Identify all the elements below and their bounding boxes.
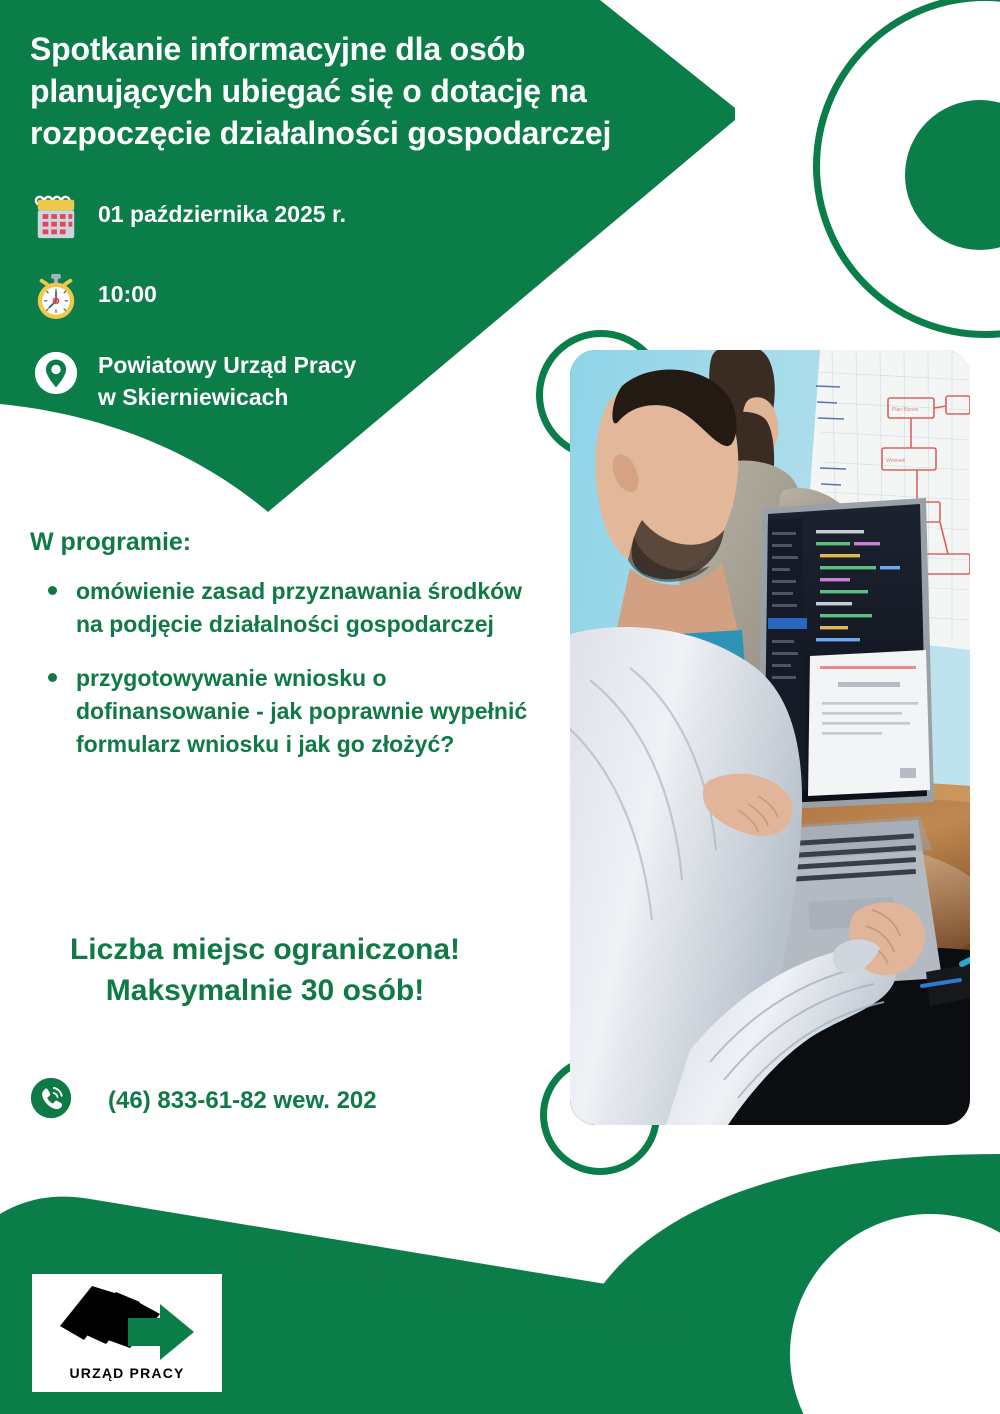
list-item: przygotowywanie wniosku o dofinansowanie… [48, 662, 550, 760]
event-detail-date: 01 października 2025 r. [28, 186, 548, 248]
decorative-ring-top-right [813, 0, 1000, 338]
event-time-text: 10:00 [84, 266, 157, 311]
event-detail-location: Powiatowy Urząd Pracy w Skierniewicach [28, 346, 548, 413]
stopwatch-icon [28, 266, 84, 328]
event-details-list: 01 października 2025 r. [28, 186, 548, 431]
logo-text: URZĄD PRACY [69, 1365, 184, 1381]
svg-text:Plan Biznes: Plan Biznes [892, 407, 919, 413]
urzad-pracy-logo: URZĄD PRACY [32, 1274, 222, 1392]
phone-icon [28, 1075, 74, 1126]
event-location-text: Powiatowy Urząd Pracy w Skierniewicach [84, 346, 356, 413]
limit-notice: Liczba miejsc ograniczona! Maksymalnie 3… [0, 930, 530, 1011]
program-list: omówienie zasad przyznawania środków na … [30, 575, 550, 760]
list-item: omówienie zasad przyznawania środków na … [48, 575, 550, 640]
phone-number-text: (46) 833-61-82 wew. 202 [74, 1087, 377, 1115]
program-section: W programie: omówienie zasad przyznawani… [30, 528, 550, 782]
svg-text:Wniosek: Wniosek [886, 458, 906, 464]
bullet-icon [48, 586, 57, 595]
program-heading: W programie: [30, 528, 550, 557]
contact-phone[interactable]: (46) 833-61-82 wew. 202 [28, 1075, 377, 1126]
event-date-text: 01 października 2025 r. [84, 186, 346, 231]
bullet-icon [48, 673, 57, 682]
calendar-icon [28, 186, 84, 248]
footer-tagline: Nie czekaj - zapisz się już dziś! [238, 1224, 755, 1363]
event-photo: Plan BiznesWniosek Etap 1Start [570, 350, 970, 1125]
program-item-text: przygotowywanie wniosku o dofinansowanie… [76, 665, 527, 756]
event-detail-time: 10:00 [28, 266, 548, 328]
location-pin-icon [28, 346, 84, 410]
page-title: Spotkanie informacyjne dla osób planując… [30, 28, 690, 155]
poster-canvas: Spotkanie informacyjne dla osób planując… [0, 0, 1000, 1414]
decorative-dot-top-right [905, 100, 1000, 250]
program-item-text: omówienie zasad przyznawania środków na … [76, 578, 522, 637]
